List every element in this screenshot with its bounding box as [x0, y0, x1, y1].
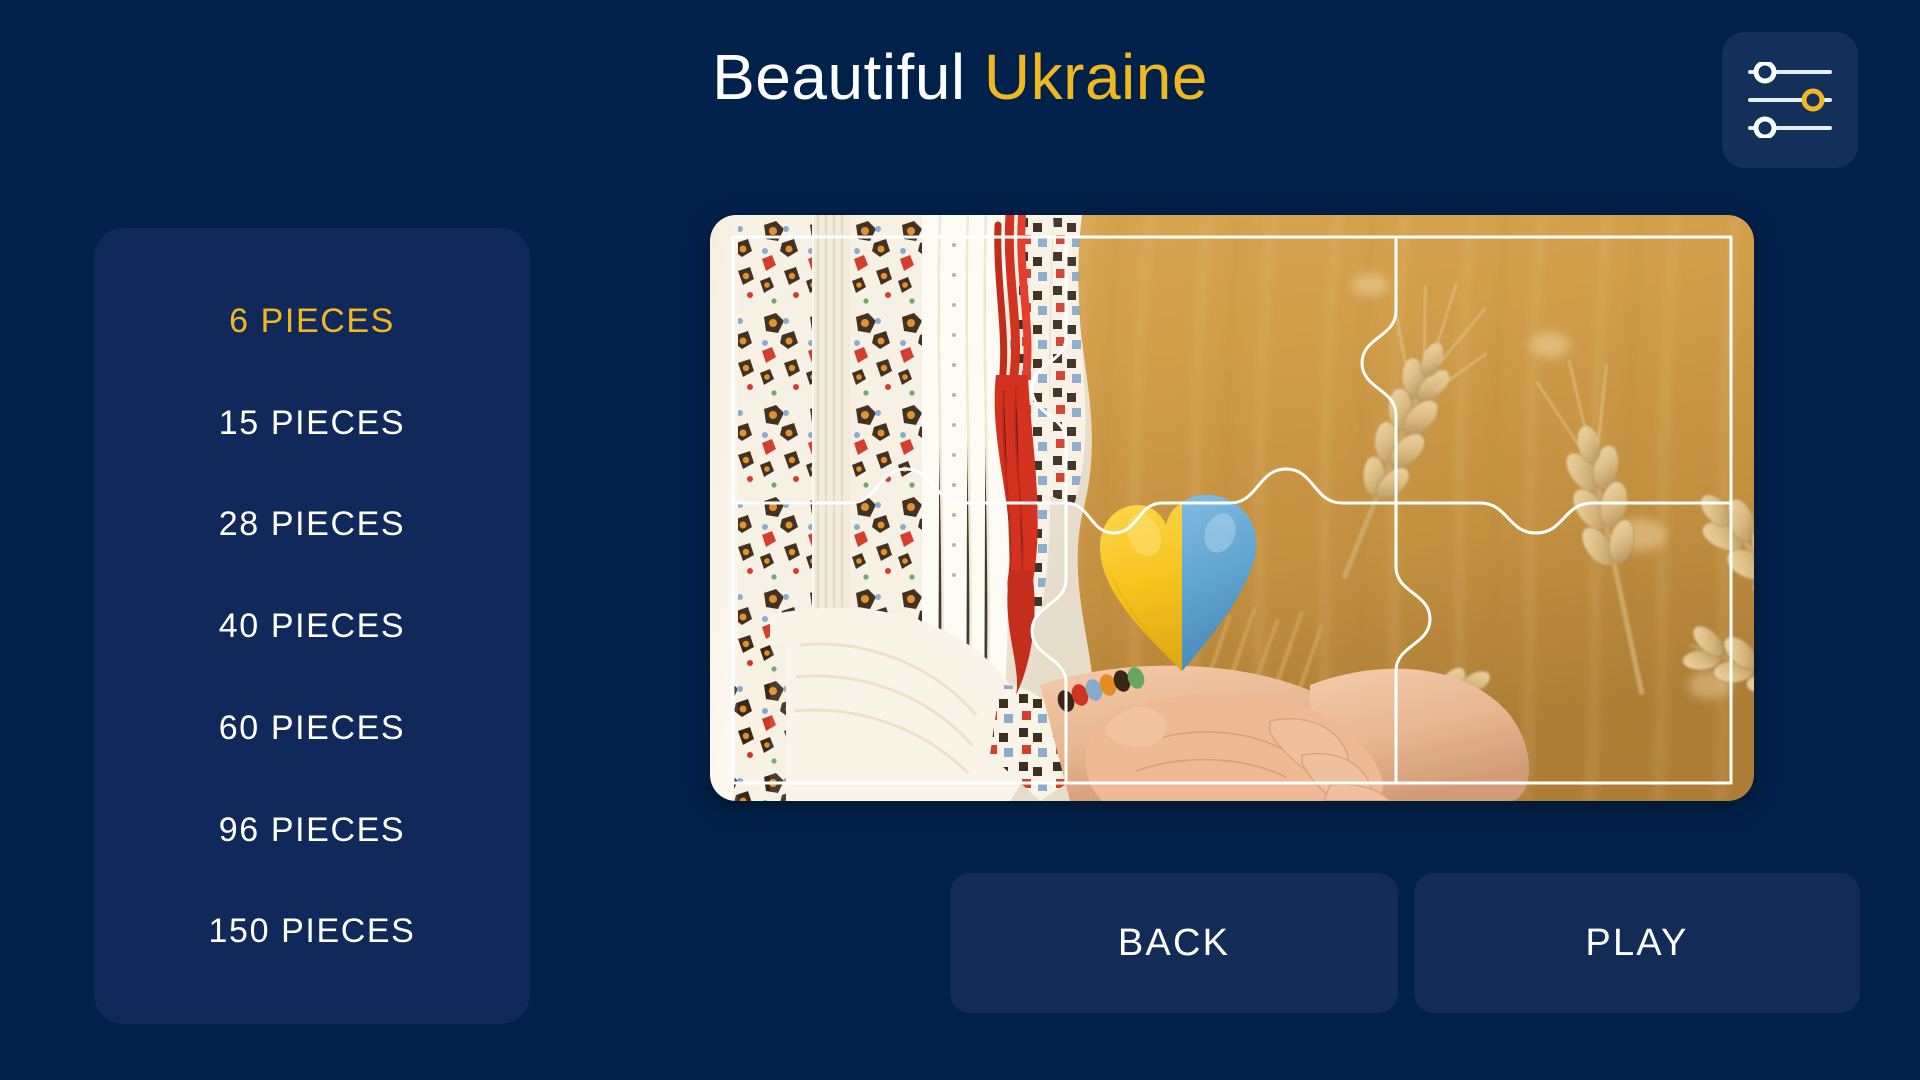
page-title: Beautiful Ukraine: [0, 42, 1920, 112]
page-title-accent: Ukraine: [984, 41, 1208, 113]
piece-option-28[interactable]: 28 PIECES: [94, 501, 530, 547]
settings-button[interactable]: [1722, 32, 1858, 168]
piece-option-6[interactable]: 6 PIECES: [94, 298, 530, 344]
piece-option-40[interactable]: 40 PIECES: [94, 603, 530, 649]
puzzle-preview[interactable]: [710, 215, 1754, 801]
puzzle-setup-screen: Beautiful Ukraine 6 PIECES 15 PIECES 28 …: [0, 0, 1920, 1080]
page-title-primary: Beautiful: [712, 41, 966, 113]
piece-option-96[interactable]: 96 PIECES: [94, 807, 530, 853]
piece-option-15[interactable]: 15 PIECES: [94, 400, 530, 446]
puzzle-grid-overlay: [710, 215, 1754, 801]
piece-option-60[interactable]: 60 PIECES: [94, 705, 530, 751]
back-button[interactable]: BACK: [950, 873, 1398, 1013]
piece-count-sidebar: 6 PIECES 15 PIECES 28 PIECES 40 PIECES 6…: [94, 228, 530, 1024]
piece-option-150[interactable]: 150 PIECES: [94, 908, 530, 954]
play-button[interactable]: PLAY: [1414, 873, 1860, 1013]
